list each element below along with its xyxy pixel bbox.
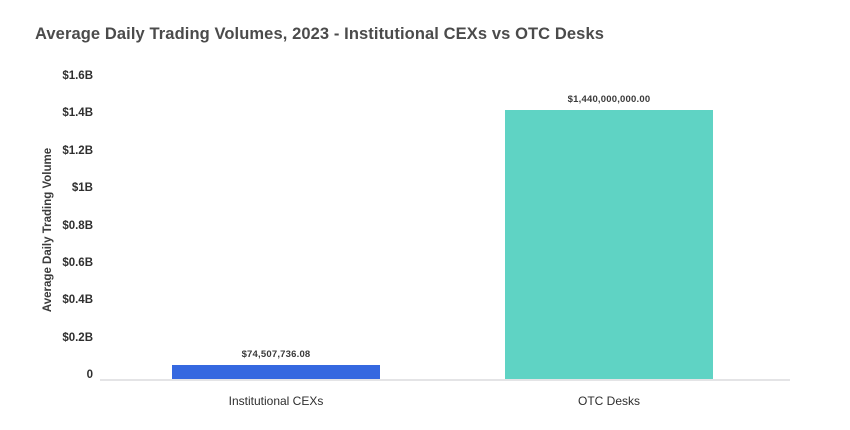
- y-tick-label: $1.4B: [62, 107, 93, 119]
- bar-rect[interactable]: [505, 110, 713, 379]
- bar-rect[interactable]: [172, 365, 380, 379]
- y-tick-label: $0.2B: [62, 332, 93, 344]
- y-tick-label: $0.4B: [62, 294, 93, 306]
- y-tick-label: $1.2B: [62, 145, 93, 157]
- y-tick-label: $1B: [72, 182, 93, 194]
- x-axis-baseline: [100, 379, 790, 381]
- y-axis-tick-labels: 0$0.2B$0.4B$0.6B$0.8B$1B$1.2B$1.4B$1.6B: [0, 0, 93, 430]
- y-tick-label: 0: [87, 369, 93, 381]
- bar-value-label: $1,440,000,000.00: [568, 94, 651, 105]
- bar-1[interactable]: $74,507,736.08: [172, 365, 380, 379]
- x-tick-label: OTC Desks: [578, 394, 640, 408]
- bar-chart: Average Daily Trading Volumes, 2023 - In…: [0, 0, 850, 430]
- y-tick-label: $1.6B: [62, 70, 93, 82]
- bar-2[interactable]: $1,440,000,000.00: [505, 110, 713, 379]
- chart-title: Average Daily Trading Volumes, 2023 - In…: [35, 25, 604, 44]
- y-tick-label: $0.8B: [62, 220, 93, 232]
- bar-value-label: $74,507,736.08: [242, 349, 311, 360]
- y-tick-label: $0.6B: [62, 257, 93, 269]
- x-tick-label: Institutional CEXs: [229, 394, 324, 408]
